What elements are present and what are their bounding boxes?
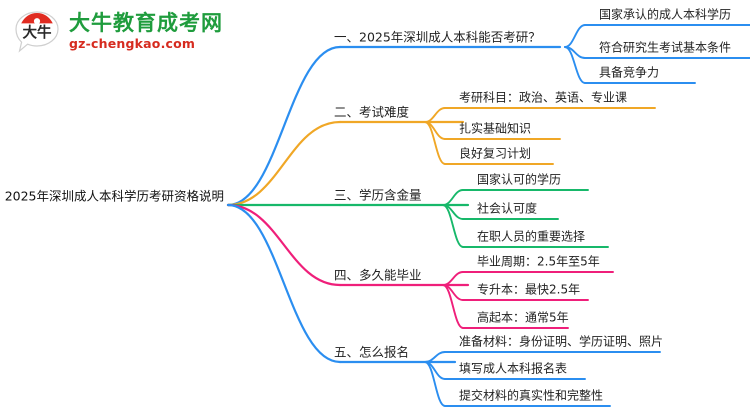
child-label[interactable]: 高起本：通常5年 — [477, 309, 569, 326]
child-label[interactable]: 国家承认的成人本科学历 — [599, 6, 731, 23]
child-label[interactable]: 符合研究生考试基本条件 — [599, 39, 731, 56]
mindmap-canvas: 大牛 大牛教育成考网 gz-chengkao.com 一、2025年深圳成人本科… — [0, 0, 750, 410]
child-label[interactable]: 在职人员的重要选择 — [477, 228, 585, 245]
child-connector — [443, 190, 463, 205]
child-connector — [443, 272, 463, 285]
child-label[interactable]: 填写成人本科报名表 — [459, 360, 567, 377]
child-connector — [425, 352, 445, 362]
child-label[interactable]: 社会认可度 — [477, 200, 537, 217]
branch-label[interactable]: 一、2025年深圳成人本科能否考研？ — [334, 27, 541, 46]
child-label[interactable]: 准备材料：身份证明、学历证明、照片 — [459, 333, 663, 350]
child-label[interactable]: 提交材料的真实性和完整性 — [459, 387, 603, 404]
branch-label[interactable]: 三、学历含金量 — [334, 185, 422, 204]
branch-label[interactable]: 五、怎么报名 — [334, 342, 409, 361]
child-label[interactable]: 考研科目：政治、英语、专业课 — [459, 89, 627, 106]
branch-connector — [228, 122, 340, 205]
branch-label[interactable]: 二、考试难度 — [334, 102, 409, 121]
branch-label[interactable]: 四、多久能毕业 — [334, 265, 422, 284]
child-connector — [425, 108, 445, 122]
branch-connector — [228, 205, 340, 285]
child-connector — [425, 122, 445, 164]
child-connector — [565, 25, 585, 47]
branch-connector — [228, 205, 340, 362]
child-connector — [425, 362, 445, 406]
child-label[interactable]: 扎实基础知识 — [459, 120, 531, 137]
child-label[interactable]: 良好复习计划 — [459, 145, 531, 162]
child-label[interactable]: 专升本：最快2.5年 — [477, 281, 580, 298]
root-label[interactable]: 2025年深圳成人本科学历考研资格说明 — [5, 186, 224, 205]
child-label[interactable]: 具备竞争力 — [599, 64, 659, 81]
child-label[interactable]: 毕业周期：2.5年至5年 — [477, 253, 600, 270]
child-label[interactable]: 国家认可的学历 — [477, 171, 561, 188]
